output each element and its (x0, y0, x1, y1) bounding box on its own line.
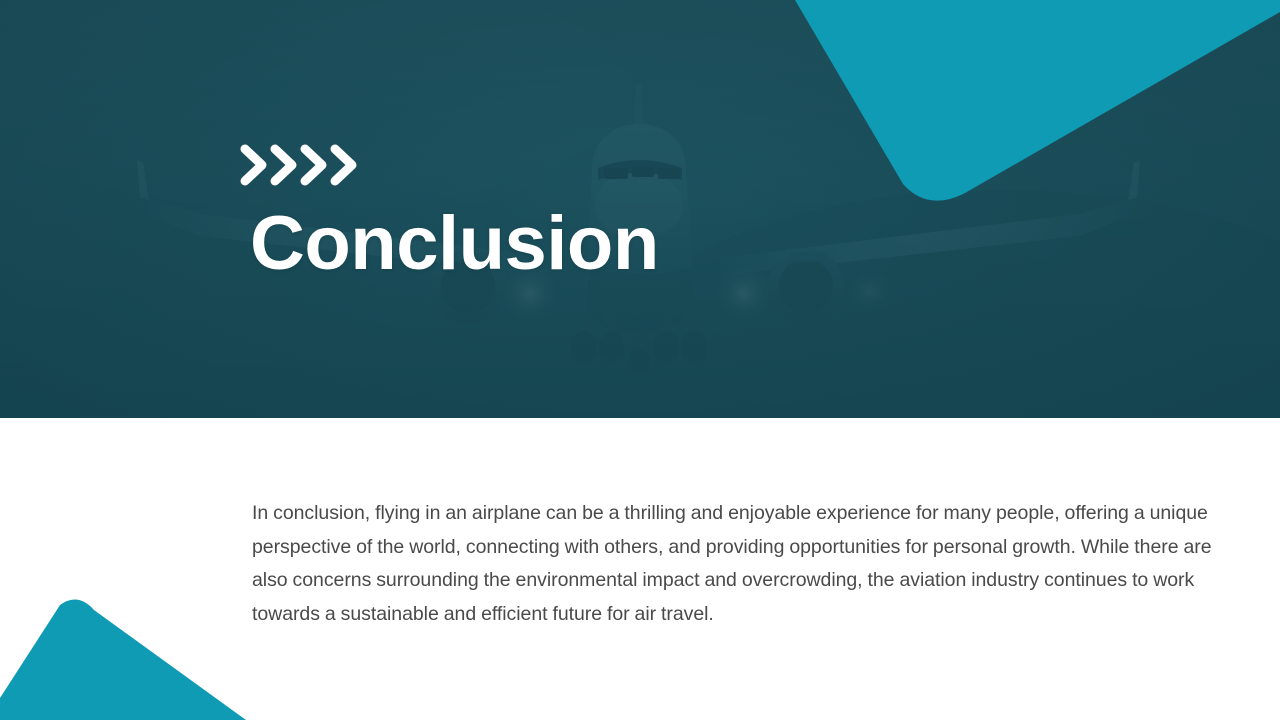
page-title: Conclusion (250, 206, 659, 282)
teal-corner-triangle-shape (0, 580, 300, 720)
slide-canvas: Conclusion In conclusion, flying in an a… (0, 0, 1280, 720)
conclusion-paragraph: In conclusion, flying in an airplane can… (252, 497, 1220, 631)
body-content-area: In conclusion, flying in an airplane can… (252, 497, 1220, 631)
hero-banner: Conclusion (0, 0, 1280, 418)
chevron-right-icon-group (240, 141, 362, 189)
